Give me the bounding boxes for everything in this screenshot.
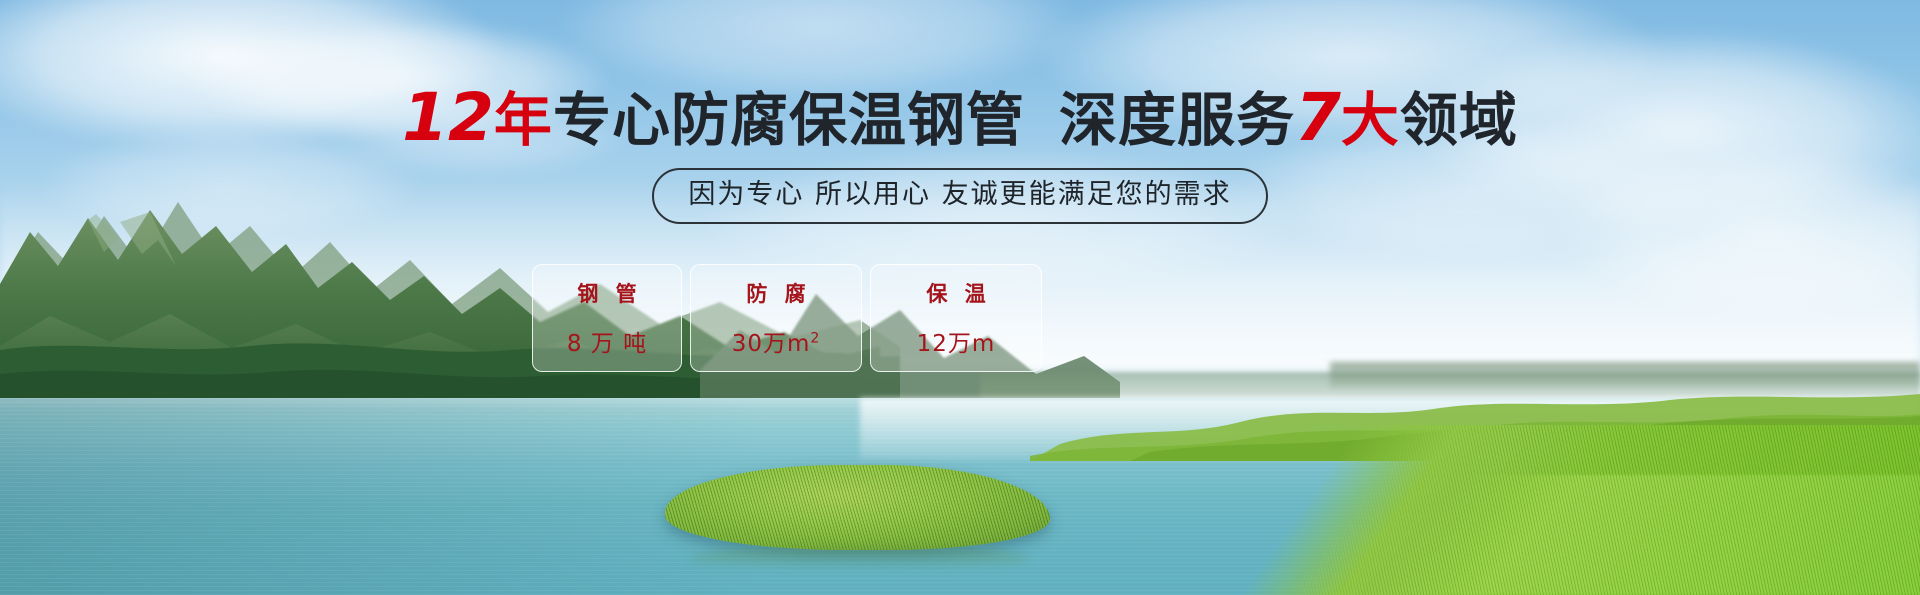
stat-card-anticorrosion[interactable]: 防 腐 30万m2 — [690, 264, 862, 372]
headline: 12年专心防腐保温钢管深度服务7大领域 — [0, 86, 1920, 152]
headline-service-text: 深度服务 — [1059, 86, 1295, 154]
promo-banner: 12年专心防腐保温钢管深度服务7大领域 因为专心 所以用心 友诚更能满足您的需求… — [0, 0, 1920, 595]
headline-years-unit: 年 — [494, 86, 553, 154]
stat-card-value: 12万m — [917, 324, 996, 358]
stat-card-label: 钢 管 — [572, 278, 641, 308]
subtitle-wrapper: 因为专心 所以用心 友诚更能满足您的需求 — [0, 168, 1920, 224]
stat-card-label: 防 腐 — [741, 278, 810, 308]
headline-fields-tail: 领域 — [1400, 86, 1518, 154]
stat-card-value: 30万m2 — [732, 324, 821, 358]
stat-card-insulation[interactable]: 保 温 12万m — [870, 264, 1042, 372]
headline-fields-unit: 大 — [1341, 86, 1400, 154]
stat-card-value-main: 8 万 吨 — [567, 331, 647, 357]
stat-card-list: 钢 管 8 万 吨 防 腐 30万m2 保 温 12万m — [532, 264, 1042, 372]
headline-fields-number: 7 — [1295, 79, 1341, 156]
banner-content: 12年专心防腐保温钢管深度服务7大领域 因为专心 所以用心 友诚更能满足您的需求… — [0, 0, 1920, 595]
stat-card-value-superscript: 2 — [810, 330, 820, 346]
headline-main-text: 专心防腐保温钢管 — [553, 86, 1025, 154]
stat-card-value-main: 12万m — [917, 331, 996, 357]
headline-years-number: 12 — [402, 79, 494, 156]
subtitle-pill: 因为专心 所以用心 友诚更能满足您的需求 — [652, 168, 1267, 224]
stat-card-value-main: 30万m — [732, 331, 811, 357]
stat-card-label: 保 温 — [921, 278, 990, 308]
stat-card-steel-pipe[interactable]: 钢 管 8 万 吨 — [532, 264, 682, 372]
stat-card-value: 8 万 吨 — [567, 324, 647, 358]
